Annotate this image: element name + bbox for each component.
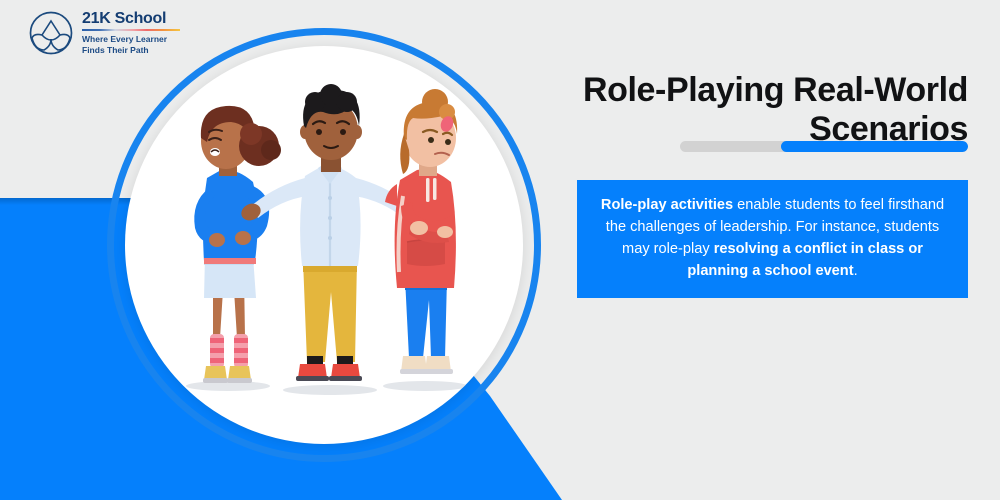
- promo-banner: 21K School Where Every Learner Finds The…: [0, 0, 1000, 500]
- illustration-ring: [107, 28, 541, 462]
- callout-text: Role-play activities enable students to …: [595, 195, 950, 283]
- brand-tagline-line1: Where Every Learner: [82, 34, 167, 44]
- lotus-circle-icon: [28, 10, 74, 56]
- progress-bar[interactable]: [680, 141, 968, 152]
- brand-name: 21K School: [82, 11, 180, 27]
- brand-tagline: Where Every Learner Finds Their Path: [82, 34, 180, 55]
- brand-tagline-line2: Finds Their Path: [82, 45, 149, 55]
- brand-logo[interactable]: 21K School Where Every Learner Finds The…: [28, 10, 180, 56]
- illustration-circle: [107, 28, 541, 462]
- brand-gradient-rule: [82, 29, 180, 32]
- brand-logo-text: 21K School Where Every Learner Finds The…: [82, 11, 180, 56]
- page-title: Role-Playing Real-World Scenarios: [538, 71, 968, 150]
- callout-box: Role-play activities enable students to …: [577, 180, 968, 298]
- progress-bar-fill: [781, 141, 968, 152]
